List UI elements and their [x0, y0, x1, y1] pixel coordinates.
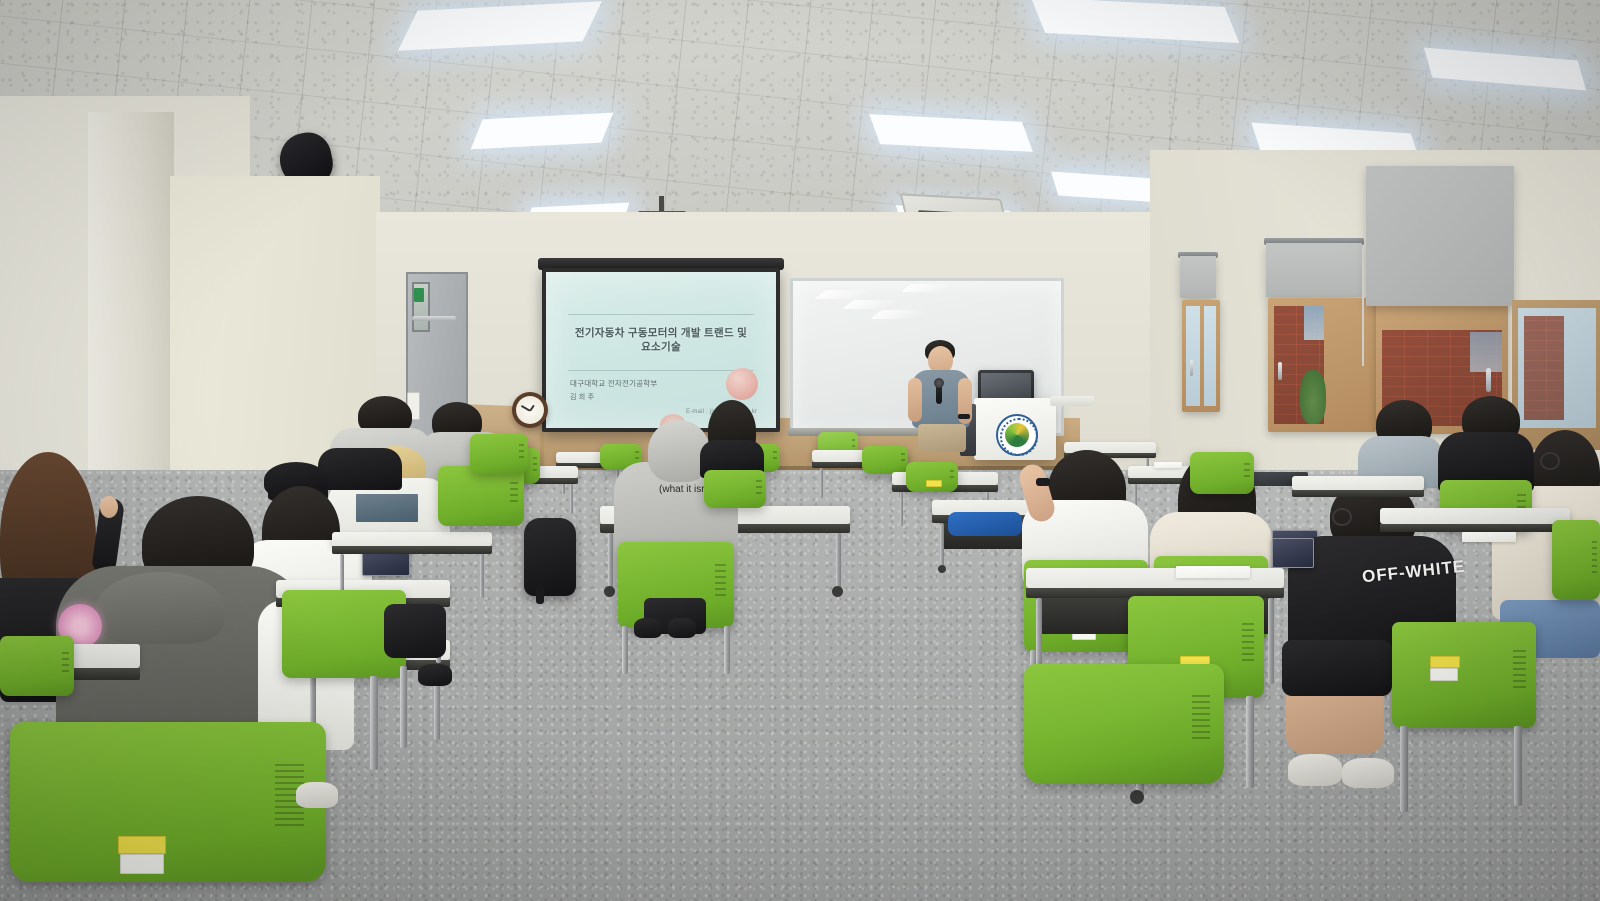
desk — [332, 532, 492, 546]
desk-edge — [1292, 490, 1424, 497]
chair-warning-sticker — [926, 480, 942, 487]
slide-divider-top — [568, 314, 754, 315]
chair-leg — [1514, 726, 1522, 806]
door-push-handle[interactable] — [412, 316, 456, 321]
chair[interactable] — [1392, 622, 1536, 728]
window-view-sky — [1304, 306, 1324, 340]
chair-caster — [1130, 790, 1144, 804]
chair[interactable] — [10, 722, 326, 882]
chair-warning-sticker — [118, 836, 166, 854]
black-backpack — [524, 518, 576, 596]
university-emblem — [996, 414, 1038, 456]
window-handle-far[interactable] — [1190, 360, 1193, 376]
student-vest-hood — [96, 572, 224, 644]
window-view-brick-far-right — [1524, 316, 1564, 420]
student-shoe — [634, 618, 662, 638]
chair[interactable] — [862, 446, 908, 474]
window-blind[interactable] — [1180, 256, 1216, 298]
desk-paper — [1462, 532, 1516, 542]
student-shoe — [1342, 758, 1394, 788]
smartphone[interactable] — [1272, 538, 1314, 568]
student-shoe — [1288, 754, 1342, 786]
podium-monitor-screen — [981, 373, 1031, 399]
chair[interactable] — [1190, 452, 1254, 494]
desk-edge — [332, 546, 492, 554]
chair[interactable] — [1552, 520, 1600, 600]
chair-leg — [400, 666, 407, 748]
student-glasses-icon — [1332, 508, 1352, 526]
presenter-watch — [958, 414, 970, 419]
window-handle-main[interactable] — [1278, 362, 1282, 380]
student-shoe — [668, 618, 696, 638]
desk-leg — [900, 492, 903, 526]
chair-leg — [724, 626, 730, 674]
presenter-shorts — [918, 424, 966, 452]
desk-leg — [1268, 598, 1274, 684]
backpack-strap — [536, 584, 544, 604]
desk — [1292, 476, 1424, 490]
desk-paper — [1154, 462, 1182, 468]
window-blind-main[interactable] — [1266, 243, 1362, 297]
desk-leg — [608, 533, 613, 589]
chair[interactable] — [1024, 664, 1224, 784]
slide-title: 전기자동차 구동모터의 개발 트랜드 및 요소기술 — [558, 326, 764, 354]
chair-warning-sticker — [1430, 656, 1460, 668]
slide-affiliation: 대구대학교 전자전기공학부 — [570, 378, 657, 389]
chair[interactable] — [470, 434, 528, 474]
chair[interactable] — [0, 636, 74, 696]
exit-sign-icon — [414, 288, 424, 302]
desk-caster — [832, 586, 843, 597]
chair-spec-sticker — [120, 854, 164, 874]
student-shoe — [418, 664, 452, 686]
tshirt-print-graphic — [356, 494, 418, 522]
window-glass-far2 — [1204, 306, 1216, 406]
window-view-tree — [1300, 370, 1326, 424]
slide-title-line1: 전기자동차 구동모터의 개발 트랜드 및 — [558, 326, 764, 340]
desk-leg — [570, 484, 573, 514]
window-blind-right[interactable] — [1366, 166, 1514, 306]
chair[interactable] — [704, 470, 766, 508]
chair-spec-sticker — [1430, 668, 1458, 681]
desk — [1380, 508, 1570, 524]
student-hand — [100, 496, 118, 518]
black-bag-left — [384, 604, 446, 658]
desk-caster — [938, 565, 946, 573]
window-blind-cord[interactable] — [1362, 246, 1364, 366]
microphone-head-icon — [934, 378, 944, 388]
window-handle-right[interactable] — [1486, 368, 1491, 392]
podium-side-desk — [1050, 396, 1094, 406]
chair-leg — [622, 626, 628, 674]
window-view-sky-right — [1470, 332, 1502, 372]
chair-leg — [1400, 726, 1408, 812]
wall-clock — [512, 392, 548, 428]
student-torso-black-behind — [318, 448, 402, 490]
student-watch — [1036, 478, 1050, 486]
student-offwhite-skirt — [1282, 640, 1392, 696]
slide-presenter-name: 김 희 주 — [570, 392, 594, 402]
desk-edge — [1380, 524, 1570, 532]
slide-title-line2: 요소기술 — [558, 340, 764, 354]
chair-leg — [370, 676, 378, 770]
classroom-photo: 전기자동차 구동모터의 개발 트랜드 및 요소기술 대구대학교 전자전기공학부 … — [0, 0, 1600, 901]
window-glass-far — [1186, 306, 1200, 406]
presenter-arm-left — [908, 378, 922, 422]
student-shoe — [296, 782, 338, 808]
chair[interactable] — [906, 462, 958, 492]
desk-paper — [1176, 566, 1250, 578]
chair-leg — [1246, 696, 1254, 788]
desk-caster — [604, 586, 615, 597]
chair[interactable] — [438, 466, 524, 526]
slide-divider-bottom — [568, 370, 754, 371]
slide-logo-graphic — [726, 368, 758, 400]
desk-leg — [820, 468, 823, 498]
desk-leg — [480, 554, 484, 598]
podium — [974, 398, 1056, 460]
blue-bag — [948, 512, 1022, 536]
desk-leg — [836, 533, 841, 589]
desk-leg — [940, 523, 944, 567]
student-glasses-icon — [1540, 452, 1560, 470]
